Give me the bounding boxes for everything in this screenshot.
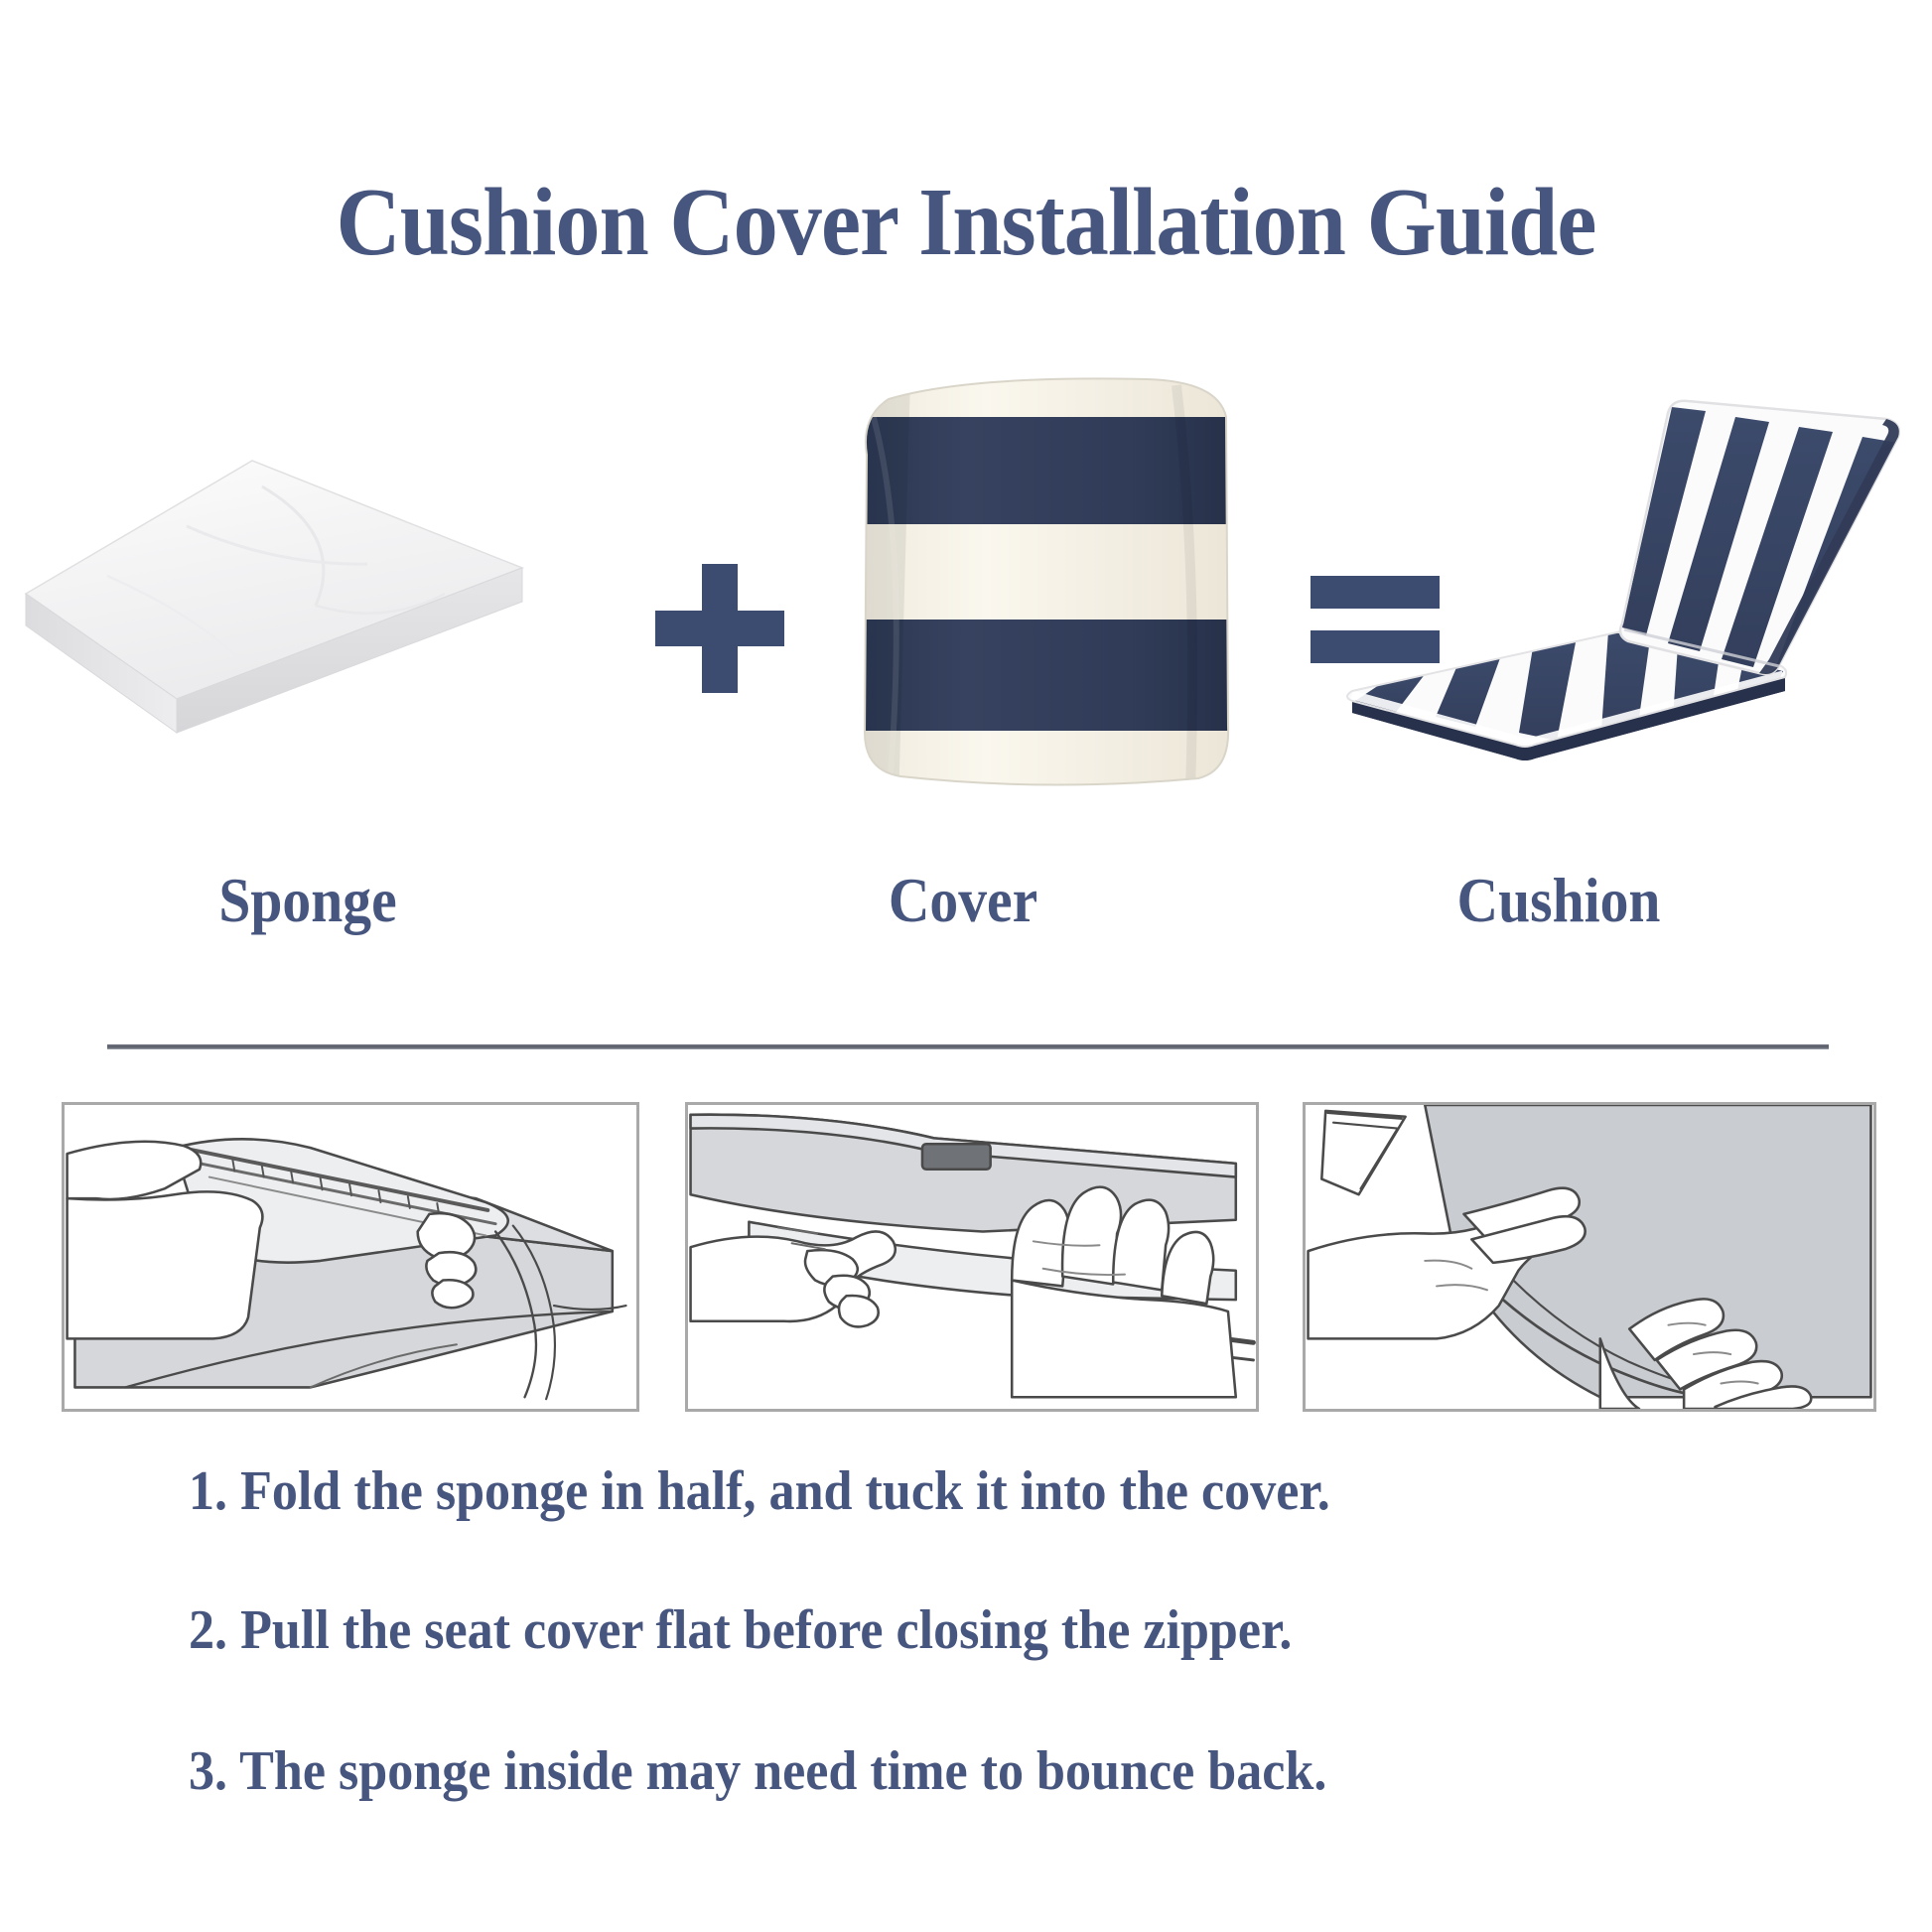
tuck-sponge-into-cover-illustration	[65, 1105, 636, 1409]
section-divider	[107, 1044, 1829, 1049]
instruction-step-3: 3. The sponge inside may need time to bo…	[189, 1739, 1810, 1803]
cover-image	[849, 377, 1241, 804]
pull-cover-flat-and-zip-illustration	[688, 1105, 1256, 1409]
cushion-image	[1330, 385, 1926, 802]
instruction-illustrations	[0, 1102, 1932, 1412]
plus-sign-icon	[655, 564, 784, 693]
plus-vertical-bar	[702, 564, 738, 693]
illustration-panel-1	[62, 1102, 639, 1412]
sponge-label: Sponge	[31, 864, 585, 937]
instruction-steps: 1. Fold the sponge in half, and tuck it …	[0, 1459, 1932, 1803]
sponge-image	[18, 417, 534, 814]
illustration-panel-3	[1303, 1102, 1876, 1412]
instruction-step-1: 1. Fold the sponge in half, and tuck it …	[189, 1459, 1810, 1523]
cushion-label: Cushion	[1273, 864, 1845, 937]
page-title: Cushion Cover Installation Guide	[77, 167, 1855, 278]
product-equation-row	[0, 397, 1932, 874]
smooth-cushion-illustration	[1306, 1105, 1873, 1409]
product-labels-row: Sponge Cover Cushion	[0, 864, 1932, 953]
instruction-step-2: 2. Pull the seat cover flat before closi…	[189, 1598, 1810, 1662]
infographic-page: Cushion Cover Installation Guide	[0, 0, 1932, 1932]
cover-label: Cover	[686, 864, 1240, 937]
illustration-panel-2	[685, 1102, 1259, 1412]
